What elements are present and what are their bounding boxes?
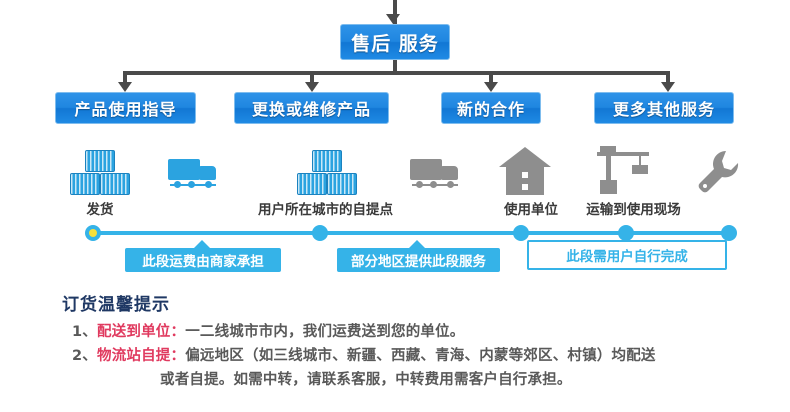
timeline-track bbox=[88, 231, 733, 235]
timeline-segment-partial-area: 部分地区提供此段服务 bbox=[337, 248, 500, 272]
timeline-dot-4 bbox=[618, 225, 634, 241]
tower-crane-icon bbox=[592, 146, 652, 194]
flow-leaf-product-usage-guide[interactable]: 产品使用指导 bbox=[55, 92, 196, 124]
connector-horizontal-bus bbox=[125, 71, 670, 75]
journey-label-shipping: 发货 bbox=[76, 198, 124, 218]
notice-title: 订货温馨提示 bbox=[62, 290, 170, 315]
notice-item-1-keyword: 配送到单位： bbox=[97, 324, 185, 340]
timeline-dot-2 bbox=[312, 225, 328, 241]
notice-item-1-body: 一二线城市市内，我们运费送到您的单位。 bbox=[185, 324, 464, 340]
timeline-segment-user-self: 此段需用户自行完成 bbox=[527, 240, 727, 270]
arrowhead-leaf-1 bbox=[118, 82, 132, 92]
notice-item-1: 1、配送到单位：一二线城市市内，我们运费送到您的单位。 bbox=[72, 320, 465, 341]
wrench-icon bbox=[695, 148, 741, 194]
after-sales-service-infographic: 售后 服务 产品使用指导 更换或维修产品 新的合作 更多其他服务 bbox=[0, 0, 790, 412]
delivery-truck-icon-blue bbox=[168, 157, 222, 191]
timeline-dot-end bbox=[721, 225, 737, 241]
notice-item-2-continued: 或者自提。如需中转，请联系客服，中转费用需客户自行承担。 bbox=[160, 368, 572, 389]
notice-item-2-number: 2、 bbox=[72, 348, 97, 364]
timeline-dot-3 bbox=[513, 225, 529, 241]
notice-item-2-keyword: 物流站自提： bbox=[97, 348, 185, 364]
arrowhead-leaf-4 bbox=[661, 82, 675, 92]
journey-label-transport-site: 运输到使用现场 bbox=[577, 198, 690, 218]
arrowhead-leaf-3 bbox=[484, 82, 498, 92]
timeline-dot-start bbox=[85, 225, 101, 241]
notice-item-1-number: 1、 bbox=[72, 324, 97, 340]
pickup-point-containers-icon bbox=[297, 150, 355, 194]
notice-item-2: 2、物流站自提：偏远地区（如三线城市、新疆、西藏、青海、内蒙等郊区、村镇）均配送 bbox=[72, 344, 656, 365]
flow-leaf-more-other-services[interactable]: 更多其他服务 bbox=[594, 92, 734, 124]
notice-item-2-body: 偏远地区（如三线城市、新疆、西藏、青海、内蒙等郊区、村镇）均配送 bbox=[185, 348, 655, 364]
journey-label-using-unit: 使用单位 bbox=[495, 198, 567, 218]
flow-leaf-replace-or-repair[interactable]: 更换或维修产品 bbox=[234, 92, 389, 124]
arrowhead-into-root bbox=[386, 14, 400, 24]
shipping-containers-icon bbox=[70, 150, 128, 194]
flow-root-box[interactable]: 售后 服务 bbox=[340, 24, 450, 60]
house-icon bbox=[499, 147, 551, 195]
arrowhead-leaf-2 bbox=[305, 82, 319, 92]
flow-leaf-new-cooperation[interactable]: 新的合作 bbox=[441, 92, 541, 124]
delivery-truck-icon-grey bbox=[410, 157, 464, 191]
timeline-segment-merchant-pays: 此段运费由商家承担 bbox=[125, 248, 281, 272]
journey-label-pickup-point: 用户所在城市的自提点 bbox=[248, 198, 403, 218]
